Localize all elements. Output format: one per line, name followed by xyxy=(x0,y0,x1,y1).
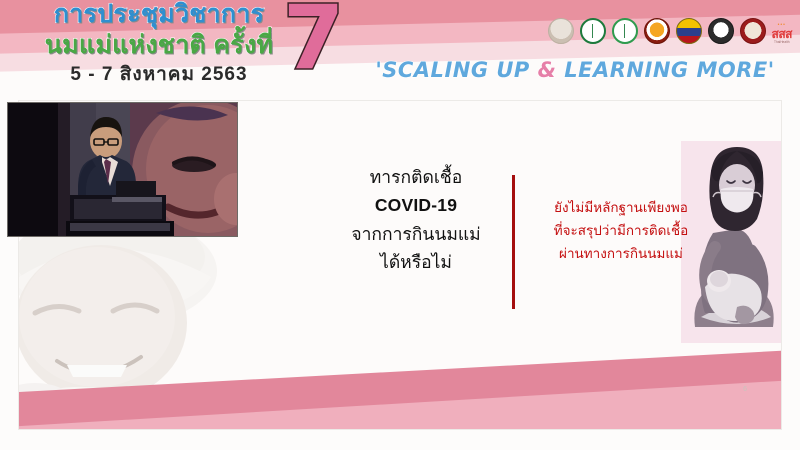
logo-thai-crest-blue xyxy=(676,18,702,44)
webcam-speaker-at-podium[interactable] xyxy=(8,103,237,236)
question-line-3: จากการกินนมแม่ xyxy=(331,220,501,248)
conference-title-line1: การประชุมวิชาการ xyxy=(14,2,304,27)
answer-text-block: ยังไม่มีหลักฐานเพียงพอ ที่จะสรุปว่ามีการ… xyxy=(515,196,727,266)
conference-title-line2: นมแม่แห่งชาติ ครั้งที่ xyxy=(14,33,304,58)
logo-red-crest xyxy=(740,18,766,44)
logo-thai-emblem-orange xyxy=(644,18,670,44)
tagline-ampersand: & xyxy=(538,58,557,82)
logo-ministry-health-green xyxy=(580,18,606,44)
tagline-suffix: LEARNING MORE' xyxy=(556,58,774,82)
conference-edition-number: 7 xyxy=(283,0,344,82)
tagline-prefix: 'SCALING UP xyxy=(375,58,537,82)
logo-black-garuda xyxy=(708,18,734,44)
question-line-4: ได้หรือไม่ xyxy=(331,248,501,276)
logo-royal-seal xyxy=(548,18,574,44)
sponsor-logo-row: ••• สสส ThaiHealth xyxy=(548,18,792,44)
question-line-1: ทารกติดเชื้อ xyxy=(331,163,501,191)
question-line-2: COVID-19 xyxy=(331,191,501,219)
answer-line-2: ที่จะสรุปว่ามีการติดเชื้อ xyxy=(515,219,727,242)
slide-page-number: 6 xyxy=(743,386,747,393)
sss-logo-text: สสส xyxy=(772,28,792,40)
conference-title-block: การประชุมวิชาการ นมแม่แห่งชาติ ครั้งที่ … xyxy=(14,2,304,84)
conference-date: 5 - 7 สิงหาคม 2563 xyxy=(14,65,304,84)
presentation-screen: การประชุมวิชาการ นมแม่แห่งชาติ ครั้งที่ … xyxy=(0,0,800,450)
answer-line-1: ยังไม่มีหลักฐานเพียงพอ xyxy=(515,196,727,219)
sss-logo-caption: ThaiHealth xyxy=(774,40,789,44)
answer-line-3: ผ่านทางการกินนมแม่ xyxy=(515,242,727,265)
question-text-block: ทารกติดเชื้อ COVID-19 จากการกินนมแม่ ได้… xyxy=(331,163,501,276)
conference-banner: การประชุมวิชาการ นมแม่แห่งชาติ ครั้งที่ … xyxy=(0,0,800,100)
logo-dept-health-green xyxy=(612,18,638,44)
logo-thaihealth-sss: ••• สสส ThaiHealth xyxy=(772,23,792,44)
conference-tagline: 'SCALING UP & LEARNING MORE' xyxy=(360,58,790,82)
